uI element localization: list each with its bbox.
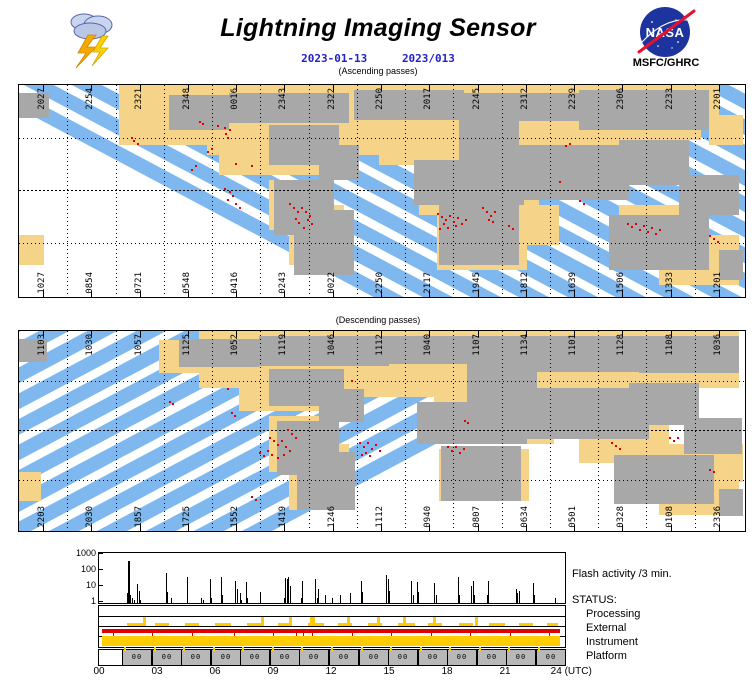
lightning-flash-point (647, 231, 649, 233)
landmass (509, 145, 629, 200)
lightning-flash-point (449, 215, 451, 217)
lightning-flash-point (717, 241, 719, 243)
lightning-flash-point (229, 191, 231, 193)
lightning-flash-point (441, 216, 443, 218)
flash-activity-bar (235, 581, 236, 603)
status-row-platform (99, 636, 565, 647)
lightning-flash-point (512, 228, 514, 230)
x-axis-label: 09 (267, 666, 278, 677)
lightning-flash-point (439, 228, 441, 230)
sunlit-region (19, 472, 41, 500)
lightning-flash-point (615, 445, 617, 447)
lightning-flash-point (307, 219, 309, 221)
orbit-label-bottom: 1945 (472, 272, 482, 294)
orbit-cell[interactable]: 00 (270, 650, 300, 665)
lightning-flash-point (437, 213, 439, 215)
orbit-label-top: 1057 (134, 334, 144, 356)
grid-line-vertical (357, 331, 358, 531)
lightning-flash-point (447, 446, 449, 448)
orbit-label-top: 1119 (278, 334, 288, 356)
orbit-label-bottom: 1246 (327, 506, 337, 528)
lightning-flash-point (285, 446, 287, 448)
orbit-cell[interactable]: 00 (299, 650, 329, 665)
orbit-label-bottom: 0022 (327, 272, 337, 294)
y-axis-label: 1 (91, 596, 96, 606)
orbit-marker (124, 647, 126, 651)
lightning-flash-point (231, 412, 233, 414)
flash-activity-bar (389, 591, 390, 603)
lightning-flash-point (259, 452, 261, 454)
lightning-flash-point (490, 215, 492, 217)
ascending-passes-map[interactable]: 2027102722540854232107212348054800160416… (18, 84, 746, 298)
orbit-label-top: 1112 (375, 334, 385, 356)
orbit-marker (420, 647, 422, 651)
date-doy: 2023/013 (402, 52, 455, 65)
x-axis-label: 21 (499, 666, 510, 677)
orbit-label-bottom: 1812 (520, 272, 530, 294)
external-status-spike (261, 617, 264, 626)
y-axis-tick (99, 553, 103, 554)
external-status-spike (403, 617, 406, 626)
lightning-flash-point (277, 444, 279, 446)
orbit-timeline[interactable]: 000000000000000000000000000000 (98, 649, 566, 666)
grid-line-vertical (212, 331, 213, 531)
flash-activity-bar (418, 592, 419, 603)
orbit-label-bottom: 1506 (616, 272, 626, 294)
page-header: Lightning Imaging Sensor 2023-01-13 2023… (0, 0, 756, 78)
lightning-flash-point (287, 429, 289, 431)
orbit-label-top: 1125 (182, 334, 192, 356)
x-axis-label: 15 (383, 666, 394, 677)
flash-activity-bar (436, 595, 437, 603)
orbit-label-top: 2027 (37, 88, 47, 110)
lightning-flash-point (453, 221, 455, 223)
flash-activity-bar (488, 581, 489, 603)
grid-line-vertical (67, 85, 68, 297)
lightning-flash-point (291, 433, 293, 435)
flash-activity-bar (134, 600, 135, 603)
flash-activity-bar (519, 591, 520, 603)
flash-activity-bar (211, 598, 212, 603)
lightning-flash-point (583, 203, 585, 205)
lightning-flash-point (455, 225, 457, 227)
lightning-flash-point (351, 380, 353, 382)
lightning-flash-point (492, 221, 494, 223)
orbit-label-bottom: 0548 (182, 272, 192, 294)
flash-activity-bar (167, 592, 168, 603)
descending-pass-caption: (Descending passes) (0, 315, 756, 325)
grid-line-vertical (116, 85, 117, 297)
lightning-flash-point (289, 450, 291, 452)
date-iso: 2023-01-13 (301, 52, 367, 65)
landmass (684, 418, 742, 454)
lightning-flash-point (467, 422, 469, 424)
lightning-flash-point (211, 148, 213, 150)
status-panel (98, 605, 566, 648)
grid-line-vertical (164, 331, 165, 531)
flash-activity-bar (386, 575, 387, 603)
equator-line (19, 430, 745, 431)
lightning-flash-point (289, 203, 291, 205)
flash-activity-bar (222, 595, 223, 603)
flash-activity-bar (132, 598, 133, 603)
legend-processing: Processing (586, 608, 640, 620)
grid-line-vertical (357, 85, 358, 297)
grid-line-vertical (550, 331, 551, 531)
lightning-flash-point (371, 448, 373, 450)
grid-line-vertical (453, 331, 454, 531)
lightning-flash-point (227, 137, 229, 139)
grid-line-vertical (646, 85, 647, 297)
orbit-marker (301, 647, 303, 651)
orbit-label-top: 2239 (568, 88, 578, 110)
orbit-label-bottom: 0328 (616, 506, 626, 528)
orbit-label-bottom: 0108 (665, 506, 675, 528)
lightning-flash-point (131, 137, 133, 139)
flash-activity-bar (555, 598, 556, 603)
landmass (319, 145, 359, 180)
lightning-flash-point (461, 223, 463, 225)
lightning-flash-point (455, 446, 457, 448)
lightning-flash-point (447, 227, 449, 229)
flash-activity-bar (137, 584, 138, 603)
flash-activity-bar (325, 595, 326, 603)
orbit-label-bottom: 0243 (278, 272, 288, 294)
lightning-flash-point (488, 219, 490, 221)
flash-activity-bar (171, 598, 172, 603)
lightning-flash-point (367, 442, 369, 444)
orbit-cell[interactable]: 00 (211, 650, 241, 665)
lightning-flash-point (677, 437, 679, 439)
lightning-flash-point (651, 227, 653, 229)
lightning-flash-point (465, 219, 467, 221)
lightning-flash-point (443, 223, 445, 225)
external-status-spike (347, 617, 350, 626)
lightning-flash-point (359, 442, 361, 444)
orbit-label-bottom: 1201 (713, 272, 723, 294)
lightning-flash-point (655, 233, 657, 235)
external-status-spike (312, 617, 315, 626)
lightning-flash-point (508, 225, 510, 227)
grid-line-vertical (116, 331, 117, 531)
lightning-flash-point (217, 125, 219, 127)
flash-activity-bar (247, 598, 248, 603)
orbit-cell[interactable]: 00 (536, 650, 566, 665)
lightning-flash-point (361, 454, 363, 456)
external-status-spike (433, 617, 436, 626)
grid-line-vertical (598, 331, 599, 531)
lightning-flash-point (269, 437, 271, 439)
lightning-flash-point (283, 454, 285, 456)
lightning-flash-point (271, 454, 273, 456)
lightning-flash-point (309, 215, 311, 217)
lightning-flash-point (627, 223, 629, 225)
lightning-flash-point (295, 437, 297, 439)
orbit-label-top: 1101 (568, 334, 578, 356)
lightning-flash-point (611, 442, 613, 444)
lightning-flash-point (277, 457, 279, 459)
orbit-cell[interactable]: 00 (122, 650, 152, 665)
orbit-label-top: 1128 (616, 334, 626, 356)
orbit-cell[interactable]: 00 (447, 650, 477, 665)
orbit-cell[interactable]: 00 (359, 650, 389, 665)
lightning-flash-point (172, 403, 174, 405)
lightning-flash-point (464, 420, 466, 422)
sunlit-region (19, 235, 44, 265)
lightning-flash-point (251, 496, 253, 498)
orbit-label-bottom: 0416 (230, 272, 240, 294)
equator-line (19, 190, 745, 191)
flash-activity-bar (201, 598, 202, 603)
external-status-spike (475, 617, 478, 626)
y-axis-label: 10 (86, 580, 96, 590)
flash-activity-bar (318, 589, 319, 603)
lightning-flash-point (482, 207, 484, 209)
lightning-flash-point (202, 123, 204, 125)
orbit-label-bottom: 0940 (423, 506, 433, 528)
flash-activity-bar (471, 586, 472, 603)
x-axis-label: 12 (325, 666, 336, 677)
orbit-cell[interactable]: 00 (181, 650, 211, 665)
orbit-label-bottom: 0501 (568, 506, 578, 528)
grid-line-vertical (67, 331, 68, 531)
orbit-marker (390, 647, 392, 651)
flash-activity-bar (413, 595, 414, 603)
lightning-flash-point (224, 188, 226, 190)
lightning-flash-point (639, 229, 641, 231)
lightning-flash-point (225, 133, 227, 135)
grid-line-vertical (598, 85, 599, 297)
flash-activity-plot[interactable]: 1000100101 (98, 552, 566, 604)
ascending-pass-caption: (Ascending passes) (0, 66, 756, 76)
orbit-label-bottom: 2203 (37, 506, 47, 528)
orbit-cell[interactable]: 00 (240, 650, 270, 665)
grid-line-vertical (405, 85, 406, 297)
orbit-label-bottom: 1857 (134, 506, 144, 528)
nasa-meatball-logo: NASA (628, 6, 702, 58)
orbit-label-bottom: 1639 (568, 272, 578, 294)
lightning-flash-point (301, 207, 303, 209)
lightning-flash-point (379, 450, 381, 452)
lightning-flash-point (459, 452, 461, 454)
external-status-spike (377, 617, 380, 626)
lightning-flash-point (619, 448, 621, 450)
y-axis-tick (99, 585, 103, 586)
lightning-flash-point (227, 199, 229, 201)
orbit-label-top: 1036 (713, 334, 723, 356)
grid-line-vertical (309, 85, 310, 297)
lightning-flash-point (494, 211, 496, 213)
grid-line-vertical (164, 85, 165, 297)
lightning-flash-point (363, 446, 365, 448)
orbit-label-bottom: 1419 (278, 506, 288, 528)
grid-line-vertical (646, 331, 647, 531)
descending-passes-map[interactable]: 1103220310302030105718571125172510521552… (18, 330, 746, 532)
orbit-label-top: 2245 (472, 88, 482, 110)
lightning-flash-point (713, 238, 715, 240)
orbit-marker (449, 647, 451, 651)
orbit-label-bottom: 2030 (85, 506, 95, 528)
lightning-flash-point (369, 455, 371, 457)
platform-status-bar (102, 636, 560, 646)
orbit-label-bottom: 0634 (520, 506, 530, 528)
orbit-label-top: 1134 (520, 334, 530, 356)
orbit-label-bottom: 1112 (375, 506, 385, 528)
legend-flash-activity: Flash activity /3 min. (572, 568, 672, 580)
orbit-label-top: 1052 (230, 334, 240, 356)
lightning-flash-point (375, 444, 377, 446)
lightning-flash-point (463, 448, 465, 450)
legend-status-title: STATUS: (572, 594, 617, 606)
lightning-flash-point (234, 415, 236, 417)
flash-activity-bar (434, 583, 435, 603)
grid-line-vertical (260, 85, 261, 297)
orbit-label-bottom: 0807 (472, 506, 482, 528)
lightning-flash-point (137, 143, 139, 145)
lightning-flash-point (305, 211, 307, 213)
lightning-flash-point (235, 203, 237, 205)
flash-activity-bar (187, 577, 188, 603)
grid-line-vertical (502, 85, 503, 297)
landmass (379, 336, 519, 364)
grid-line-vertical (695, 85, 696, 297)
lightning-flash-point (709, 469, 711, 471)
orbit-label-top: 1046 (327, 334, 337, 356)
flash-activity-bar (237, 589, 238, 603)
orbit-cell[interactable]: 00 (477, 650, 507, 665)
flash-activity-bar (350, 593, 351, 603)
flash-activity-bar (315, 579, 316, 603)
activity-panel: 1000100101 00000000000000000000000000000… (0, 548, 756, 680)
orbit-marker (272, 647, 274, 651)
orbit-label-top: 1040 (423, 334, 433, 356)
orbit-marker (183, 647, 185, 651)
orbit-marker (154, 647, 156, 651)
lightning-flash-point (445, 219, 447, 221)
orbit-label-bottom: 1552 (230, 506, 240, 528)
flash-activity-bar (130, 595, 131, 603)
x-axis-label: 18 (441, 666, 452, 677)
orbit-cell[interactable]: 00 (388, 650, 418, 665)
lightning-flash-point (224, 127, 226, 129)
orbit-cell[interactable]: 00 (329, 650, 359, 665)
lightning-flash-point (227, 388, 229, 390)
orbit-label-top: 2343 (278, 88, 288, 110)
lightning-flash-point (643, 225, 645, 227)
grid-line-vertical (453, 85, 454, 297)
orbit-cell[interactable]: 00 (418, 650, 448, 665)
flash-activity-bar (285, 578, 286, 603)
lightning-flash-point (255, 499, 257, 501)
orbit-marker (213, 647, 215, 651)
flash-activity-bar (340, 595, 341, 603)
flash-activity-bar (241, 600, 242, 603)
lightning-flash-point (579, 200, 581, 202)
landmass (439, 205, 519, 265)
y-axis-tick (99, 601, 103, 602)
orbit-label-bottom: 0721 (134, 272, 144, 294)
grid-line-horizontal (19, 138, 745, 139)
grid-line-horizontal (19, 243, 745, 244)
lightning-flash-point (191, 169, 193, 171)
orbit-cell[interactable]: 00 (152, 650, 182, 665)
lightning-flash-point (195, 165, 197, 167)
lightning-flash-point (673, 440, 675, 442)
legend-external: External (586, 622, 626, 634)
lightning-flash-point (207, 151, 209, 153)
y-axis-tick (99, 569, 103, 570)
legend-platform: Platform (586, 650, 627, 662)
lightning-flash-point (457, 217, 459, 219)
orbit-label-top: 1103 (37, 334, 47, 356)
x-axis-label: 00 (93, 666, 104, 677)
external-status-spike (143, 617, 146, 626)
flash-activity-bar (517, 593, 518, 603)
external-status-spike (289, 617, 292, 626)
orbit-label-top: 2254 (85, 88, 95, 110)
orbit-label-top: 2250 (375, 88, 385, 110)
lightning-flash-point (713, 471, 715, 473)
orbit-label-top: 2201 (713, 88, 723, 110)
orbit-label-bottom: 0854 (85, 272, 95, 294)
orbit-label-top: 1030 (85, 334, 95, 356)
orbit-label-top: 2306 (616, 88, 626, 110)
orbit-label-bottom: 1333 (665, 272, 675, 294)
flash-activity-bar (362, 592, 363, 603)
lightning-flash-point (659, 229, 661, 231)
lightning-flash-point (263, 455, 265, 457)
lightning-flash-point (311, 223, 313, 225)
lightning-flash-point (293, 207, 295, 209)
flash-activity-bar (459, 595, 460, 603)
lightning-flash-point (297, 211, 299, 213)
orbit-marker (538, 647, 540, 651)
plot-legend: Flash activity /3 min. STATUS: Processin… (572, 548, 756, 680)
orbit-label-top: 2321 (134, 88, 144, 110)
lightning-flash-point (281, 440, 283, 442)
lightning-flash-point (229, 129, 231, 131)
x-axis-label: 03 (151, 666, 162, 677)
flash-activity-bar (260, 592, 261, 603)
lightning-flash-point (295, 218, 297, 220)
orbit-label-top: 0016 (230, 88, 240, 110)
grid-line-vertical (695, 331, 696, 531)
lightning-flash-point (451, 450, 453, 452)
legend-instrument: Instrument (586, 636, 638, 648)
orbit-cell[interactable]: 00 (506, 650, 536, 665)
flash-activity-bar (290, 586, 291, 603)
lightning-flash-point (251, 165, 253, 167)
lightning-flash-point (635, 223, 637, 225)
lightning-flash-point (133, 140, 135, 142)
grid-line-horizontal (19, 480, 745, 481)
lightning-flash-point (365, 452, 367, 454)
grid-line-vertical (260, 331, 261, 531)
orbit-label-top: 2233 (665, 88, 675, 110)
y-axis-label: 1000 (76, 548, 96, 558)
lightning-flash-point (669, 437, 671, 439)
instrument-status-bar (102, 629, 560, 633)
orbit-label-bottom: 2117 (423, 272, 433, 294)
flash-activity-bar (411, 581, 412, 603)
orbit-label-top: 2348 (182, 88, 192, 110)
orbit-marker (508, 647, 510, 651)
flash-activity-bar (534, 595, 535, 603)
landmass (169, 95, 229, 130)
orbit-label-top: 1107 (472, 334, 482, 356)
lightning-flash-point (232, 195, 234, 197)
orbit-label-top: 2312 (520, 88, 530, 110)
